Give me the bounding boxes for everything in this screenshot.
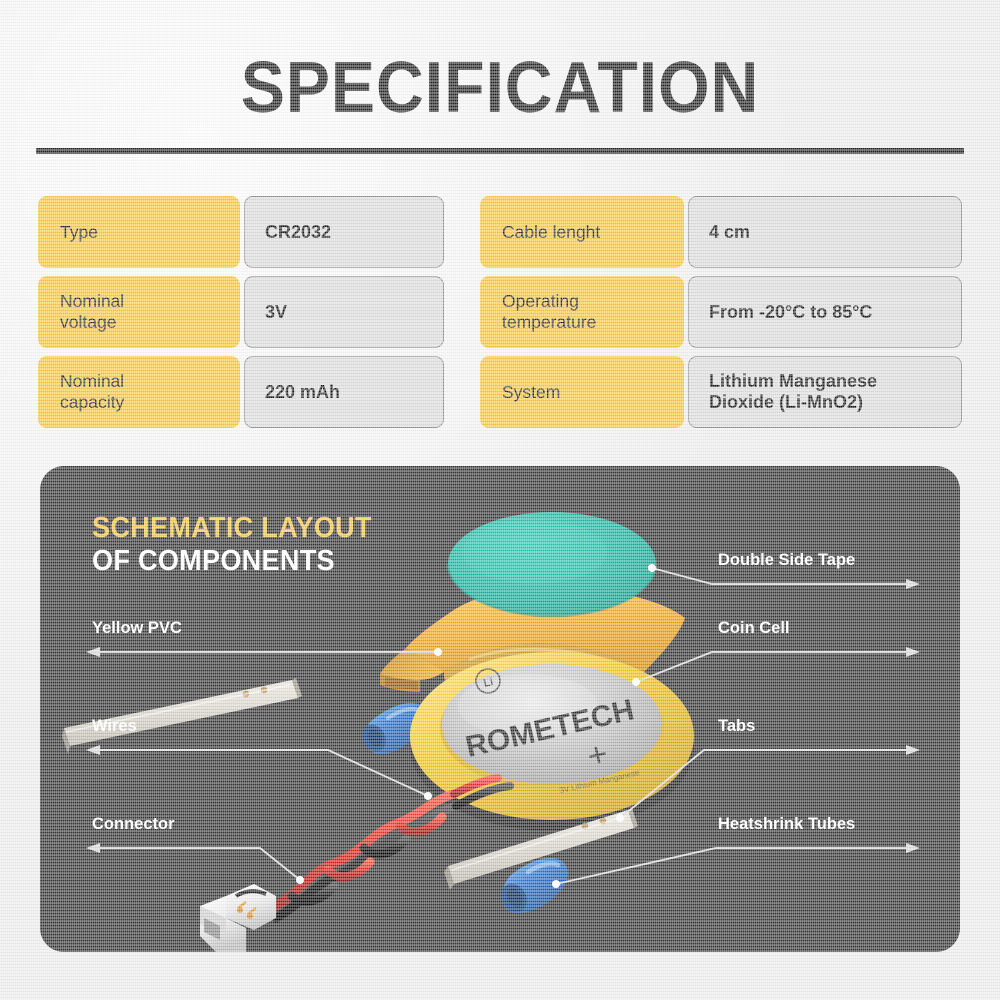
spec-column-right: Cable lenght 4 cm Operating temperature … [480, 196, 962, 436]
callout-heatshrink-tubes: Heatshrink Tubes [718, 814, 855, 834]
spec-value-nominal-voltage: 3V [244, 276, 444, 348]
arrow-wires [86, 745, 100, 755]
callout-connector: Connector [92, 814, 175, 834]
anchor-tabs [616, 814, 624, 822]
spec-row: Operating temperature From -20°C to 85°C [480, 276, 962, 348]
callout-tabs: Tabs [718, 716, 755, 736]
spec-row: Type CR2032 [38, 196, 444, 268]
spec-column-left: Type CR2032 Nominal voltage 3V Nominal c… [38, 196, 444, 436]
spec-key-nominal-voltage: Nominal voltage [38, 276, 240, 348]
anchor-connector [296, 876, 304, 884]
spec-value-operating-temperature: From -20°C to 85°C [688, 276, 962, 348]
spec-key-operating-temperature: Operating temperature [480, 276, 684, 348]
callout-coin-cell: Coin Cell [718, 618, 790, 638]
anchor-double-side-tape [648, 564, 656, 572]
arrow-tabs [906, 745, 920, 755]
arrow-connector [86, 843, 100, 853]
leader-heatshrink-tubes [556, 848, 912, 884]
spec-value-cable-length: 4 cm [688, 196, 962, 268]
arrow-coin-cell [906, 647, 920, 657]
spec-key-type: Type [38, 196, 240, 268]
spec-row: Nominal capacity 220 mAh [38, 356, 444, 428]
spec-row: System Lithium Manganese Dioxide (Li-MnO… [480, 356, 962, 428]
spec-value-nominal-capacity: 220 mAh [244, 356, 444, 428]
spec-row: Nominal voltage 3V [38, 276, 444, 348]
infographic-page: SPECIFICATION Type CR2032 Nominal voltag… [0, 0, 1000, 1000]
spec-key-cable-length: Cable lenght [480, 196, 684, 268]
callout-yellow-pvc: Yellow PVC [92, 618, 182, 638]
spec-row: Cable lenght 4 cm [480, 196, 962, 268]
leader-coin-cell [636, 652, 912, 682]
callout-wires: Wires [92, 716, 137, 736]
spec-value-system: Lithium Manganese Dioxide (Li-MnO2) [688, 356, 962, 428]
spec-value-type: CR2032 [244, 196, 444, 268]
arrow-double-side-tape [906, 579, 920, 589]
anchor-wires [424, 792, 432, 800]
anchor-coin-cell [632, 678, 640, 686]
page-title: SPECIFICATION [40, 52, 960, 124]
leader-connector [96, 848, 300, 880]
spec-key-nominal-capacity: Nominal capacity [38, 356, 240, 428]
callout-double-side-tape: Double Side Tape [718, 550, 855, 570]
arrow-yellow-pvc [86, 647, 100, 657]
leader-wires [96, 750, 428, 796]
title-divider [36, 148, 964, 154]
schematic-panel: SCHEMATIC LAYOUT OF COMPONENTS [40, 466, 960, 952]
spec-key-system: System [480, 356, 684, 428]
arrow-heatshrink-tubes [906, 843, 920, 853]
leader-double-side-tape [652, 568, 912, 584]
anchor-heatshrink-tubes [552, 880, 560, 888]
callout-leader-lines [40, 466, 960, 952]
leader-tabs [620, 750, 912, 818]
anchor-yellow-pvc [434, 648, 442, 656]
